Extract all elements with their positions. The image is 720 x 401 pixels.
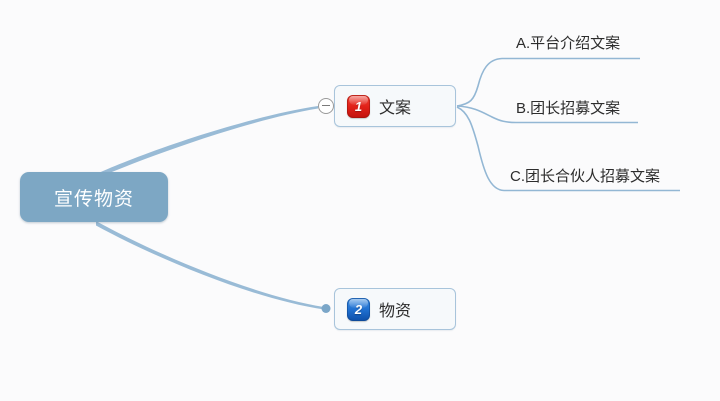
root-node[interactable]: 宣传物资	[20, 172, 168, 222]
collapse-toggle-icon[interactable]	[318, 98, 334, 114]
badge-number-1: 1	[347, 95, 370, 118]
mindmap-canvas: 宣传物资 1 文案 2 物资 A.平台介绍文案 B.团长招募文案 C.团长合伙人…	[0, 0, 720, 401]
leaf-node-b[interactable]: B.团长招募文案	[516, 97, 620, 118]
badge-number-2: 2	[347, 298, 370, 321]
leaf-node-c[interactable]: C.团长合伙人招募文案	[510, 165, 660, 186]
edge-root-to-wenan	[96, 106, 318, 179]
leaf-node-a[interactable]: A.平台介绍文案	[516, 32, 620, 53]
branch-node-wenan-label: 文案	[379, 94, 411, 118]
edge-root-to-wuzi	[96, 221, 324, 310]
root-node-label: 宣传物资	[54, 184, 134, 211]
branch-node-wuzi[interactable]: 2 物资	[334, 288, 456, 330]
branch-node-wuzi-label: 物资	[379, 297, 411, 321]
edge-dot-wuzi	[322, 304, 331, 313]
branch-node-wenan[interactable]: 1 文案	[334, 85, 456, 127]
